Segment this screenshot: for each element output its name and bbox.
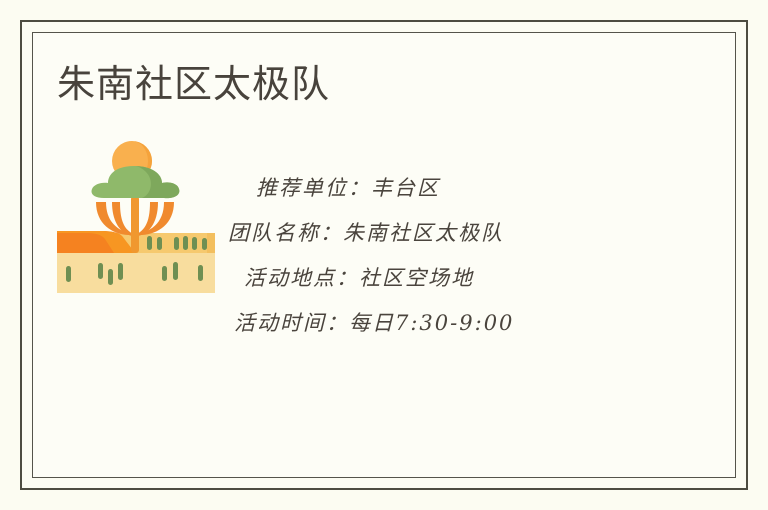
detail-value: 每日7:30-9:00 [349,311,514,335]
detail-label: 活动地点： [244,266,359,290]
detail-row-team-name: 团队名称：朱南社区太极队 [222,211,622,256]
ground-lower-band [57,247,215,293]
detail-label: 活动时间： [234,311,349,335]
detail-label: 团队名称： [228,221,343,245]
savanna-sunset-illustration [50,136,220,296]
detail-value: 朱南社区太极队 [343,221,504,245]
detail-row-time: 活动时间：每日7:30-9:00 [222,301,622,346]
team-info-card: 朱南社区太极队 [0,0,768,510]
detail-row-location: 活动地点：社区空场地 [222,256,622,301]
detail-label: 推荐单位： [256,176,371,200]
team-details-list: 推荐单位：丰台区 团队名称：朱南社区太极队 活动地点：社区空场地 活动时间：每日… [222,166,622,346]
detail-value: 丰台区 [371,176,440,200]
detail-row-recommending-unit: 推荐单位：丰台区 [222,166,622,211]
detail-value: 社区空场地 [359,266,474,290]
page-title: 朱南社区太极队 [57,60,330,110]
